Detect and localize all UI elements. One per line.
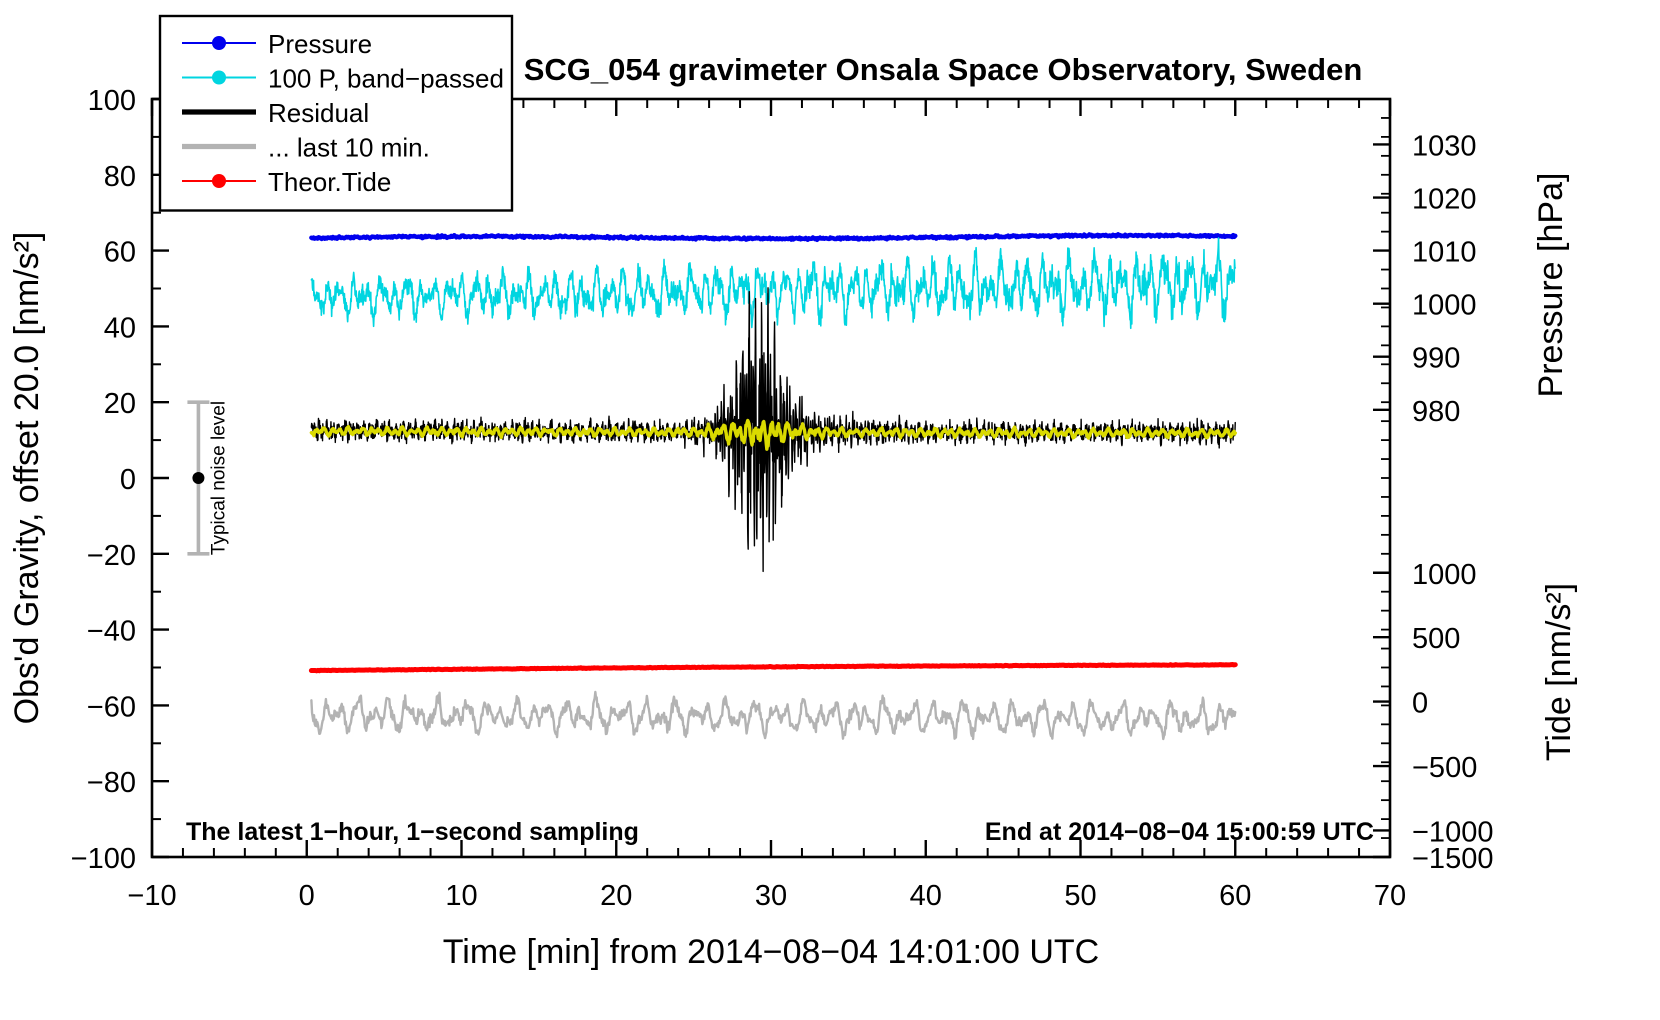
y-left-axis-title: Obs'd Gravity, offset 20.0 [nm/s²] bbox=[8, 232, 46, 725]
y-left-tick-label: 60 bbox=[104, 237, 136, 269]
legend-swatch-marker bbox=[212, 174, 226, 188]
legend-swatch-marker bbox=[212, 71, 226, 85]
x-tick-label: 30 bbox=[755, 880, 787, 912]
legend-box[interactable]: Pressure100 P, band−passedResidual... la… bbox=[160, 16, 512, 211]
y-left-tick-label: 0 bbox=[120, 464, 136, 496]
y-left-tick-label: −20 bbox=[87, 540, 136, 572]
x-tick-label: 70 bbox=[1374, 880, 1406, 912]
legend-swatch-marker bbox=[212, 36, 226, 50]
legend-item-label: ... last 10 min. bbox=[268, 133, 430, 163]
y-right-tide-title: Tide [nm/s²] bbox=[1540, 583, 1578, 761]
data-traces bbox=[311, 234, 1235, 739]
y-left-tick-label: 80 bbox=[104, 161, 136, 193]
x-tick-label: 40 bbox=[910, 880, 942, 912]
y-right-pressure-tick-label: 1000 bbox=[1412, 290, 1477, 322]
x-tick-label: 20 bbox=[600, 880, 632, 912]
y-right-tide-tick-label: 500 bbox=[1412, 623, 1460, 655]
y-right-pressure-tick-label: 980 bbox=[1412, 396, 1460, 428]
chart-root: Typical noise level −10010203040506070Ti… bbox=[0, 0, 1660, 1020]
x-tick-label: 10 bbox=[445, 880, 477, 912]
y-right-pressure-title: Pressure [hPa] bbox=[1532, 173, 1570, 398]
axes-frame bbox=[152, 99, 1390, 857]
y-right-pressure-tick-label: 1020 bbox=[1412, 184, 1477, 216]
y-right-tide-tick-label: −1500 bbox=[1412, 843, 1493, 875]
annotation-bottom-left: The latest 1−hour, 1−second sampling bbox=[186, 818, 639, 846]
y-left-tick-label: −40 bbox=[87, 616, 136, 648]
legend-item-label: Theor.Tide bbox=[268, 167, 391, 197]
annotation-bottom-right: End at 2014−08−04 15:00:59 UTC bbox=[985, 818, 1374, 846]
gravimeter-plot: Typical noise level −10010203040506070Ti… bbox=[0, 0, 1660, 1020]
y-left-tick-label: 20 bbox=[104, 388, 136, 420]
y-right-tide-tick-label: 1000 bbox=[1412, 559, 1477, 591]
trace-theoretical-tide bbox=[311, 665, 1235, 671]
legend-item-label: Residual bbox=[268, 98, 369, 128]
x-tick-label: 50 bbox=[1064, 880, 1096, 912]
y-left-tick-label: 40 bbox=[104, 312, 136, 344]
y-left-tick-label: −80 bbox=[87, 767, 136, 799]
legend-item-label: Pressure bbox=[268, 29, 372, 59]
trace-last-10-min bbox=[311, 692, 1235, 739]
y-right-pressure-tick-label: 1010 bbox=[1412, 237, 1477, 269]
y-right-pressure-tick-label: 1030 bbox=[1412, 130, 1477, 162]
trace-pressure-bandpassed bbox=[311, 238, 1235, 328]
y-right-tide-tick-label: −500 bbox=[1412, 752, 1477, 784]
noise-center-dot bbox=[192, 472, 204, 484]
page-title: SCG_054 gravimeter Onsala Space Observat… bbox=[524, 52, 1363, 87]
x-tick-label: 0 bbox=[299, 880, 315, 912]
y-left-tick-label: 100 bbox=[88, 85, 136, 117]
x-tick-label: −10 bbox=[127, 880, 176, 912]
legend-item-label: 100 P, band−passed bbox=[268, 64, 504, 94]
trace-pressure bbox=[311, 234, 1235, 239]
y-right-tide-tick-label: 0 bbox=[1412, 688, 1428, 720]
noise-errorbar bbox=[187, 402, 209, 554]
x-axis-title: Time [min] from 2014−08−04 14:01:00 UTC bbox=[443, 933, 1099, 971]
y-right-pressure-tick-label: 990 bbox=[1412, 343, 1460, 375]
noise-label: Typical noise level bbox=[208, 401, 229, 555]
typical-noise-indicator: Typical noise level bbox=[187, 401, 229, 555]
y-left-tick-label: −60 bbox=[87, 691, 136, 723]
x-tick-label: 60 bbox=[1219, 880, 1251, 912]
y-left-tick-label: −100 bbox=[71, 843, 136, 875]
